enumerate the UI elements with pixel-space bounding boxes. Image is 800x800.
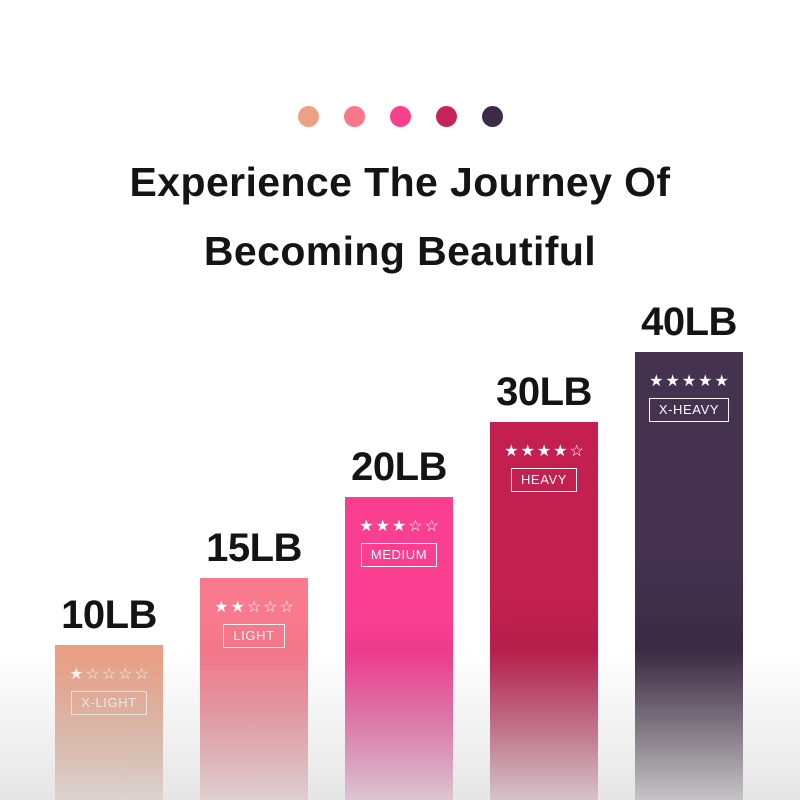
star-filled-icon: ★ xyxy=(359,519,373,535)
star-filled-icon: ★ xyxy=(715,374,729,390)
rating-stars: ★☆☆☆☆ xyxy=(69,667,149,683)
rating-stars: ★★★★☆ xyxy=(504,444,584,460)
rating-stars: ★★★☆☆ xyxy=(359,519,439,535)
star-empty-icon: ☆ xyxy=(570,444,584,460)
star-empty-icon: ☆ xyxy=(425,519,439,535)
bar-badge-group: ★★★★☆HEAVY xyxy=(490,444,598,492)
star-filled-icon: ★ xyxy=(553,444,567,460)
star-filled-icon: ★ xyxy=(682,374,696,390)
bar-bottom-shade xyxy=(490,610,598,800)
star-filled-icon: ★ xyxy=(649,374,663,390)
star-empty-icon: ☆ xyxy=(247,600,261,616)
star-filled-icon: ★ xyxy=(520,444,534,460)
star-empty-icon: ☆ xyxy=(118,667,132,683)
star-filled-icon: ★ xyxy=(375,519,389,535)
bar-badge-group: ★★☆☆☆LIGHT xyxy=(200,600,308,648)
bar-fill: ★★★★☆HEAVY xyxy=(490,422,598,800)
bar-column-10lb[interactable]: 10LB★☆☆☆☆X-LIGHT xyxy=(55,645,163,800)
star-filled-icon: ★ xyxy=(392,519,406,535)
star-empty-icon: ☆ xyxy=(408,519,422,535)
tier-badge: X-LIGHT xyxy=(71,691,146,715)
bar-column-30lb[interactable]: 30LB★★★★☆HEAVY xyxy=(490,422,598,800)
star-empty-icon: ☆ xyxy=(135,667,149,683)
bar-column-20lb[interactable]: 20LB★★★☆☆MEDIUM xyxy=(345,497,453,800)
bar-value-label: 15LB xyxy=(206,526,302,571)
bar-value-label: 10LB xyxy=(61,593,157,638)
bar-bottom-shade xyxy=(345,610,453,800)
bar-bottom-shade xyxy=(635,610,743,800)
bar-value-label: 20LB xyxy=(351,445,447,490)
bar-badge-group: ★☆☆☆☆X-LIGHT xyxy=(55,667,163,715)
star-filled-icon: ★ xyxy=(230,600,244,616)
bar-fill: ★★☆☆☆LIGHT xyxy=(200,578,308,800)
star-filled-icon: ★ xyxy=(504,444,518,460)
bar-fill: ★☆☆☆☆X-LIGHT xyxy=(55,645,163,800)
resistance-bar-chart: 10LB★☆☆☆☆X-LIGHT15LB★★☆☆☆LIGHT20LB★★★☆☆M… xyxy=(0,0,800,800)
star-empty-icon: ☆ xyxy=(280,600,294,616)
rating-stars: ★★☆☆☆ xyxy=(214,600,294,616)
tier-badge: HEAVY xyxy=(511,468,577,492)
bar-column-15lb[interactable]: 15LB★★☆☆☆LIGHT xyxy=(200,578,308,800)
star-filled-icon: ★ xyxy=(698,374,712,390)
bar-fill: ★★★★★X-HEAVY xyxy=(635,352,743,800)
bar-badge-group: ★★★★★X-HEAVY xyxy=(635,374,743,422)
tier-badge: MEDIUM xyxy=(361,543,437,567)
bar-badge-group: ★★★☆☆MEDIUM xyxy=(345,519,453,567)
bar-value-label: 40LB xyxy=(641,300,737,345)
tier-badge: LIGHT xyxy=(223,624,284,648)
bar-column-40lb[interactable]: 40LB★★★★★X-HEAVY xyxy=(635,352,743,800)
promo-banner: Experience The Journey Of Becoming Beaut… xyxy=(0,0,800,800)
star-empty-icon: ☆ xyxy=(102,667,116,683)
rating-stars: ★★★★★ xyxy=(649,374,729,390)
tier-badge: X-HEAVY xyxy=(649,398,729,422)
bar-fill: ★★★☆☆MEDIUM xyxy=(345,497,453,800)
star-filled-icon: ★ xyxy=(537,444,551,460)
star-filled-icon: ★ xyxy=(214,600,228,616)
bar-value-label: 30LB xyxy=(496,370,592,415)
star-empty-icon: ☆ xyxy=(263,600,277,616)
star-filled-icon: ★ xyxy=(69,667,83,683)
star-filled-icon: ★ xyxy=(665,374,679,390)
star-empty-icon: ☆ xyxy=(85,667,99,683)
